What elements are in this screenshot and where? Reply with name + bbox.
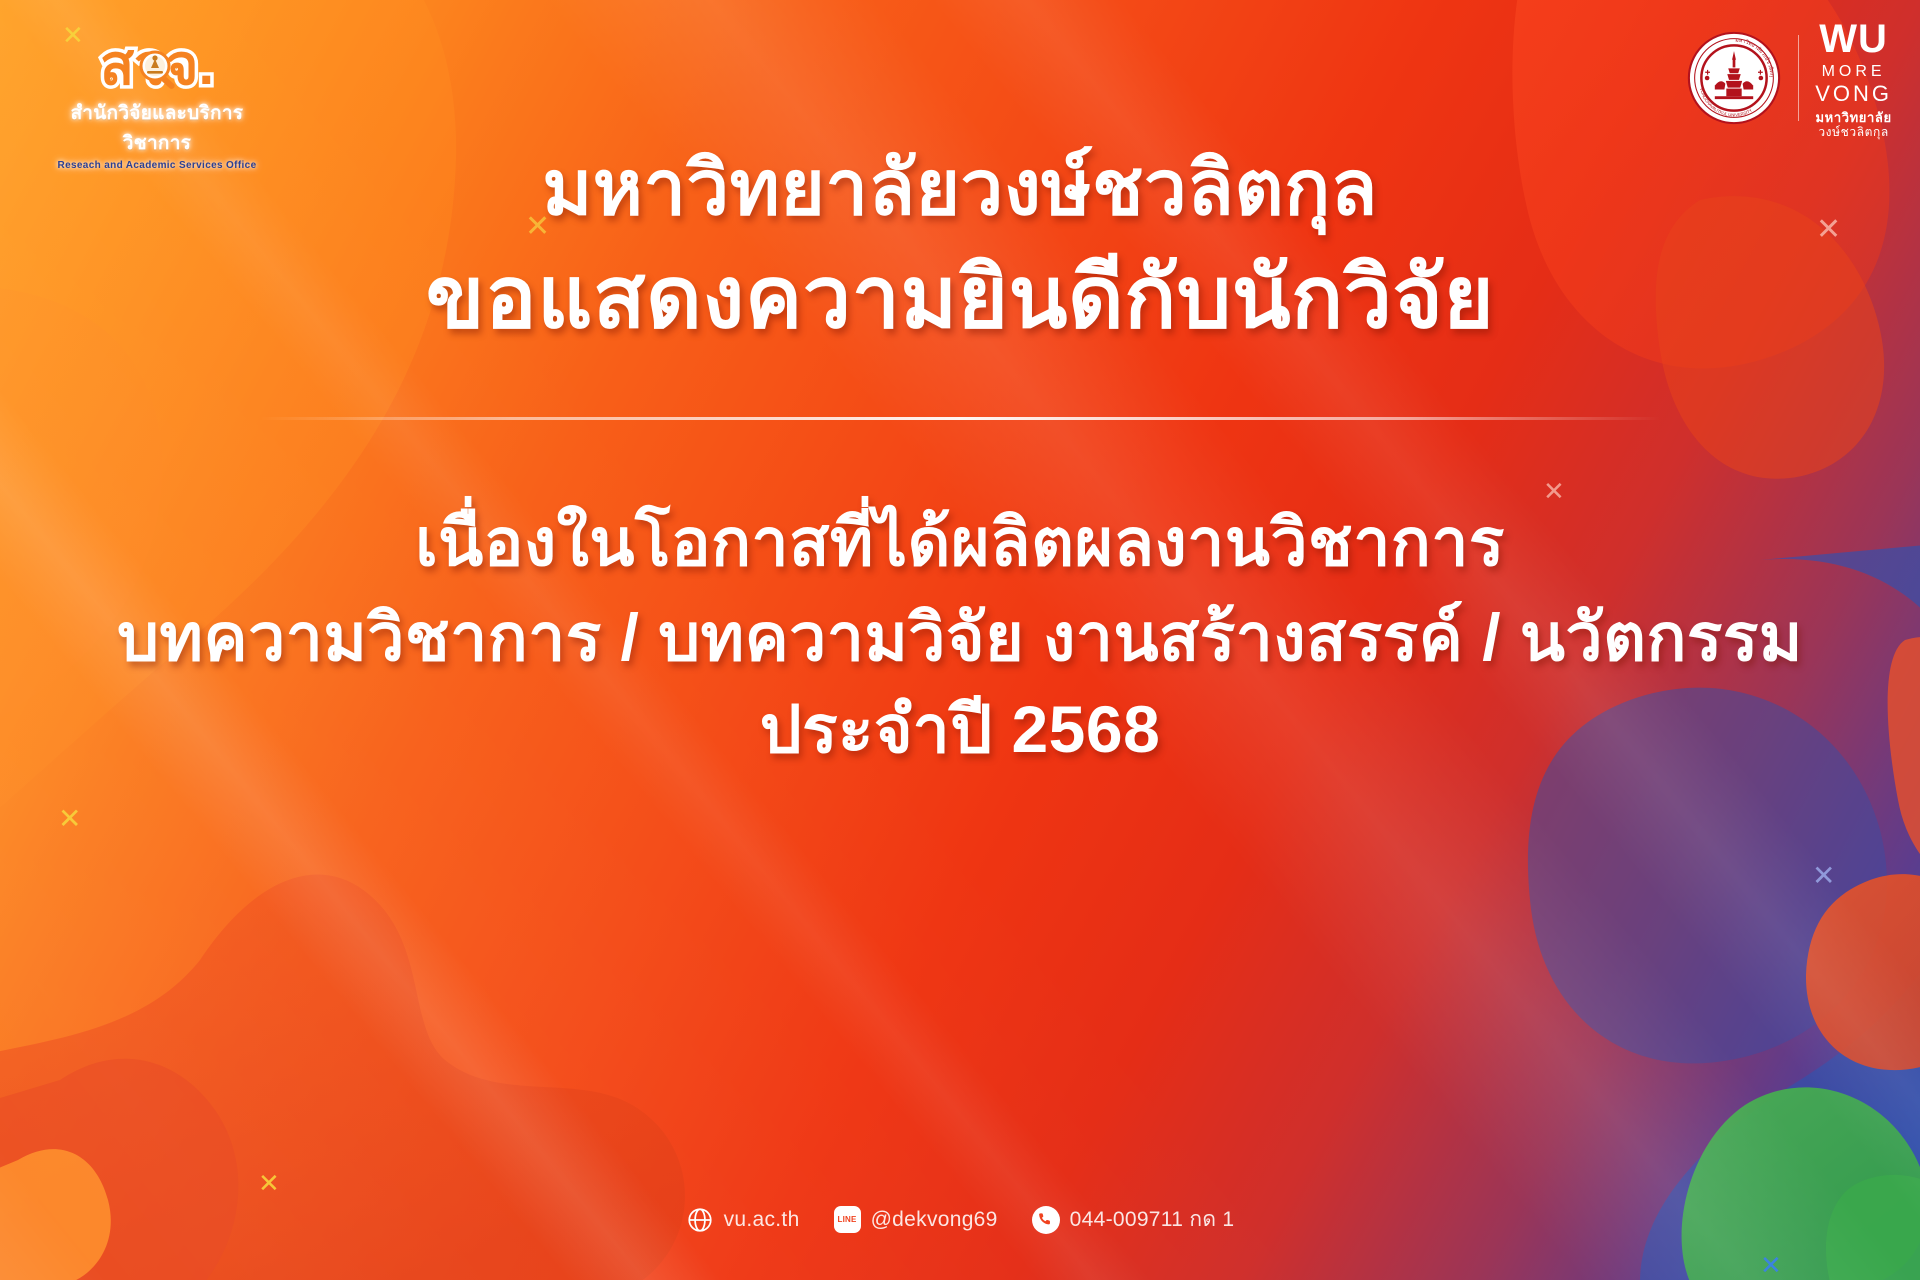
line-badge-label: LINE bbox=[838, 1215, 857, 1224]
banner-content: มหาวิทยาลัยวงษ์ชวลิตกุล ขอแสดงความยินดีก… bbox=[0, 0, 1920, 1280]
contact-website[interactable]: vu.ac.th bbox=[686, 1206, 800, 1234]
contact-line[interactable]: LINE @dekvong69 bbox=[834, 1206, 998, 1233]
body-line-2: บทความวิชาการ / บทความวิจัย งานสร้างสรรค… bbox=[117, 601, 1803, 674]
title-line-2: ขอแสดงความยินดีกับนักวิจัย bbox=[426, 252, 1495, 345]
contact-phone[interactable]: 044-009711 กด 1 bbox=[1032, 1203, 1235, 1236]
website-label: vu.ac.th bbox=[724, 1208, 800, 1232]
phone-label: 044-009711 กด 1 bbox=[1070, 1203, 1235, 1236]
globe-icon bbox=[686, 1206, 714, 1234]
body-line-1: เนื่องในโอกาสที่ได้ผลิตผลงานวิชาการ bbox=[415, 506, 1505, 579]
body-line-3: ประจำปี 2568 bbox=[760, 693, 1161, 766]
line-id-label: @dekvong69 bbox=[871, 1208, 998, 1232]
contact-footer: vu.ac.th LINE @dekvong69 044-009711 กด 1 bbox=[0, 1203, 1920, 1236]
title-line-1: มหาวิทยาลัยวงษ์ชวลิตกุล bbox=[542, 148, 1378, 230]
congratulations-banner: ✕✕✕✕✕✕✕✕ สวจ. สำนักวิจัยและบริการวิชาการ… bbox=[0, 0, 1920, 1280]
line-app-icon: LINE bbox=[834, 1206, 861, 1233]
phone-icon bbox=[1032, 1206, 1060, 1234]
section-divider bbox=[260, 417, 1660, 420]
